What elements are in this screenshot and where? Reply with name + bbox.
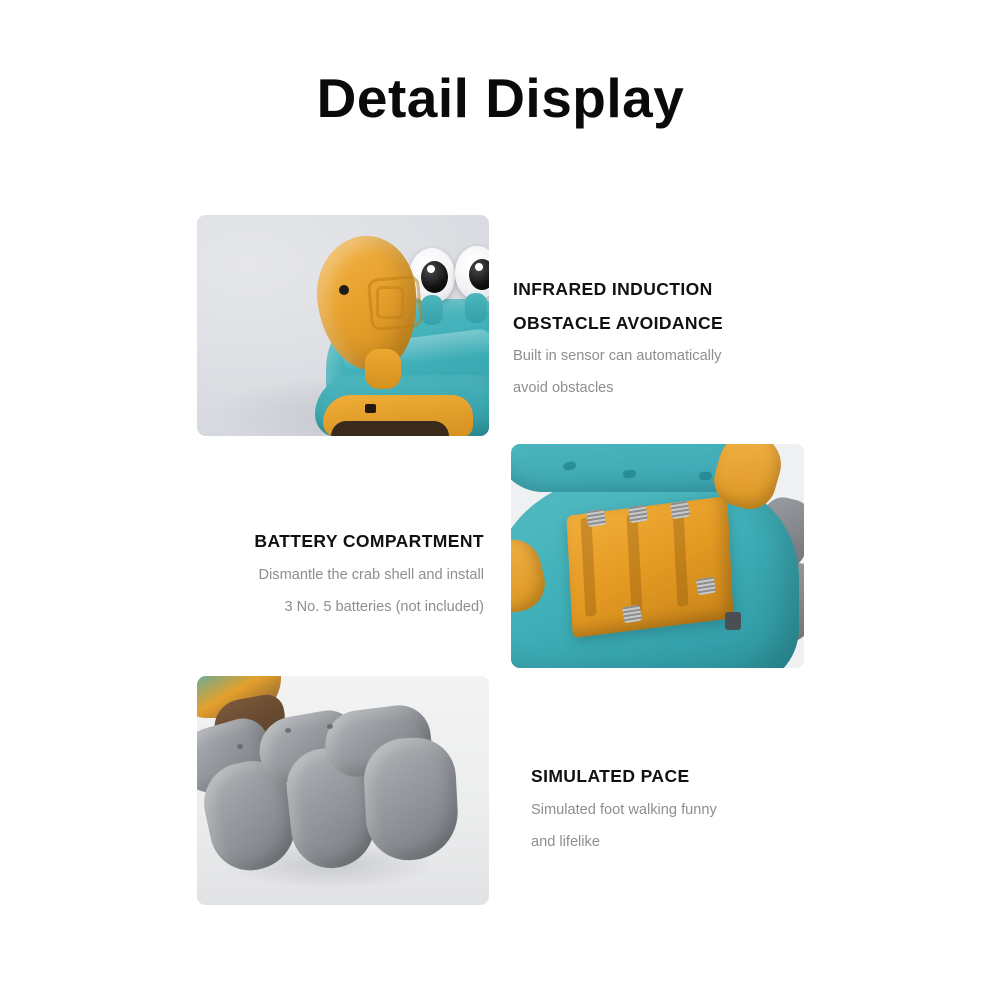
feature-text-battery-compartment: BATTERY COMPARTMENT Dismantle the crab s… [184, 525, 484, 623]
feature-text-simulated-pace: SIMULATED PACE Simulated foot walking fu… [531, 760, 831, 858]
feature-heading-line1: INFRARED INDUCTION [513, 273, 813, 307]
battery-contact-spring-1 [586, 509, 606, 528]
crab-leg-joint-dot-1 [237, 744, 243, 749]
battery-contact-spring-5 [696, 577, 716, 596]
battery-contact-spring-4 [622, 605, 642, 624]
crab-claw-dot [339, 285, 349, 295]
crab-pupil-left [421, 261, 448, 293]
feature-heading-line1: SIMULATED PACE [531, 760, 831, 794]
feature-heading-line2: OBSTACLE AVOIDANCE [513, 307, 813, 341]
feature-description-line1: Simulated foot walking funny [531, 794, 831, 826]
battery-contact-spring-2 [628, 505, 648, 524]
crab-eye-glint-left [427, 265, 435, 273]
crab-underside-shadow [331, 421, 449, 436]
feature-description-line2: 3 No. 5 batteries (not included) [184, 591, 484, 623]
feature-heading-line1: BATTERY COMPARTMENT [184, 525, 484, 559]
crab-leg-joint-dot-2 [285, 728, 291, 733]
crab-leg-joint-dot-3 [327, 724, 333, 729]
crab-mouth-vent [365, 404, 376, 413]
crab-eye-stalk-right [465, 293, 487, 323]
battery-cover-latch [725, 612, 741, 630]
feature-image-simulated-pace [197, 676, 489, 905]
crab-claw-panel-inner [376, 286, 404, 319]
crab-eye-glint-right [475, 263, 483, 271]
shell-vent-3 [699, 472, 713, 481]
feature-description-line2: avoid obstacles [513, 372, 813, 404]
page-title: Detail Display [0, 68, 1001, 129]
feature-image-battery-compartment [511, 444, 804, 668]
crab-claw-joint [365, 349, 401, 389]
crab-leg-3-lower [362, 736, 460, 863]
feature-description-line2: and lifelike [531, 826, 831, 858]
feature-description-line1: Built in sensor can automatically [513, 340, 813, 372]
battery-contact-spring-3 [670, 501, 690, 520]
feature-text-infrared-induction: INFRARED INDUCTION OBSTACLE AVOIDANCE Bu… [513, 273, 813, 404]
crab-eye-stalk-left [421, 295, 443, 325]
feature-description-line1: Dismantle the crab shell and install [184, 559, 484, 591]
feature-image-infrared-induction [197, 215, 489, 436]
